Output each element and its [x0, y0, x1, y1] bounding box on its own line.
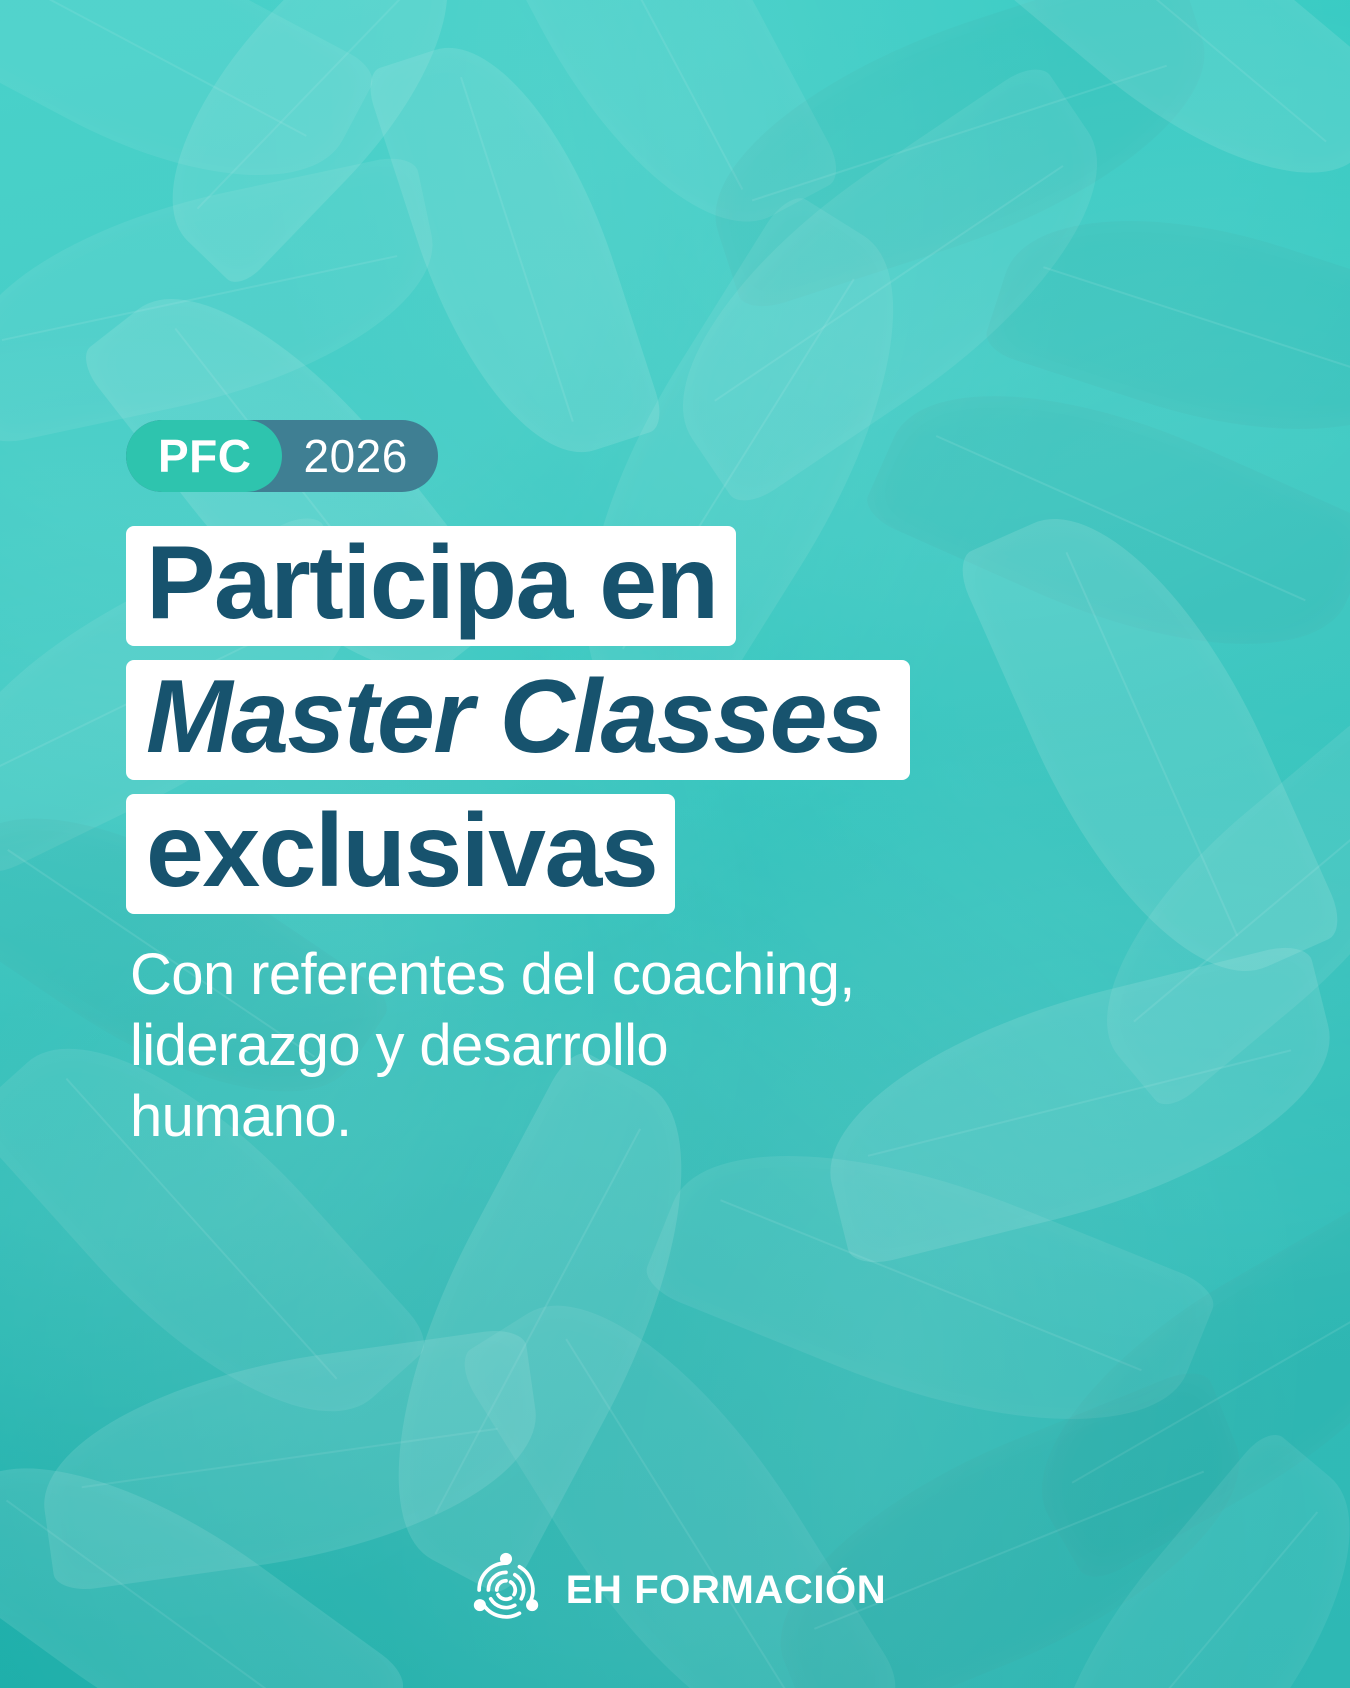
headline-line-3: exclusivas — [126, 794, 675, 914]
headline-line-2: Master Classes — [126, 660, 910, 780]
headline: Participa en Master Classes exclusivas — [126, 526, 1226, 928]
subtitle: Con referentes del coaching, liderazgo y… — [130, 940, 890, 1152]
eh-formacion-logo-icon — [464, 1548, 548, 1632]
badge-year: 2026 — [282, 420, 438, 492]
brand-name: EH FORMACIÓN — [566, 1570, 887, 1610]
badge-program-code: PFC — [126, 420, 282, 492]
promo-poster: PFC 2026 Participa en Master Classes exc… — [0, 0, 1350, 1688]
headline-line-1: Participa en — [126, 526, 736, 646]
footer-brand-lockup: EH FORMACIÓN — [0, 1548, 1350, 1632]
program-badge: PFC 2026 — [126, 420, 438, 492]
